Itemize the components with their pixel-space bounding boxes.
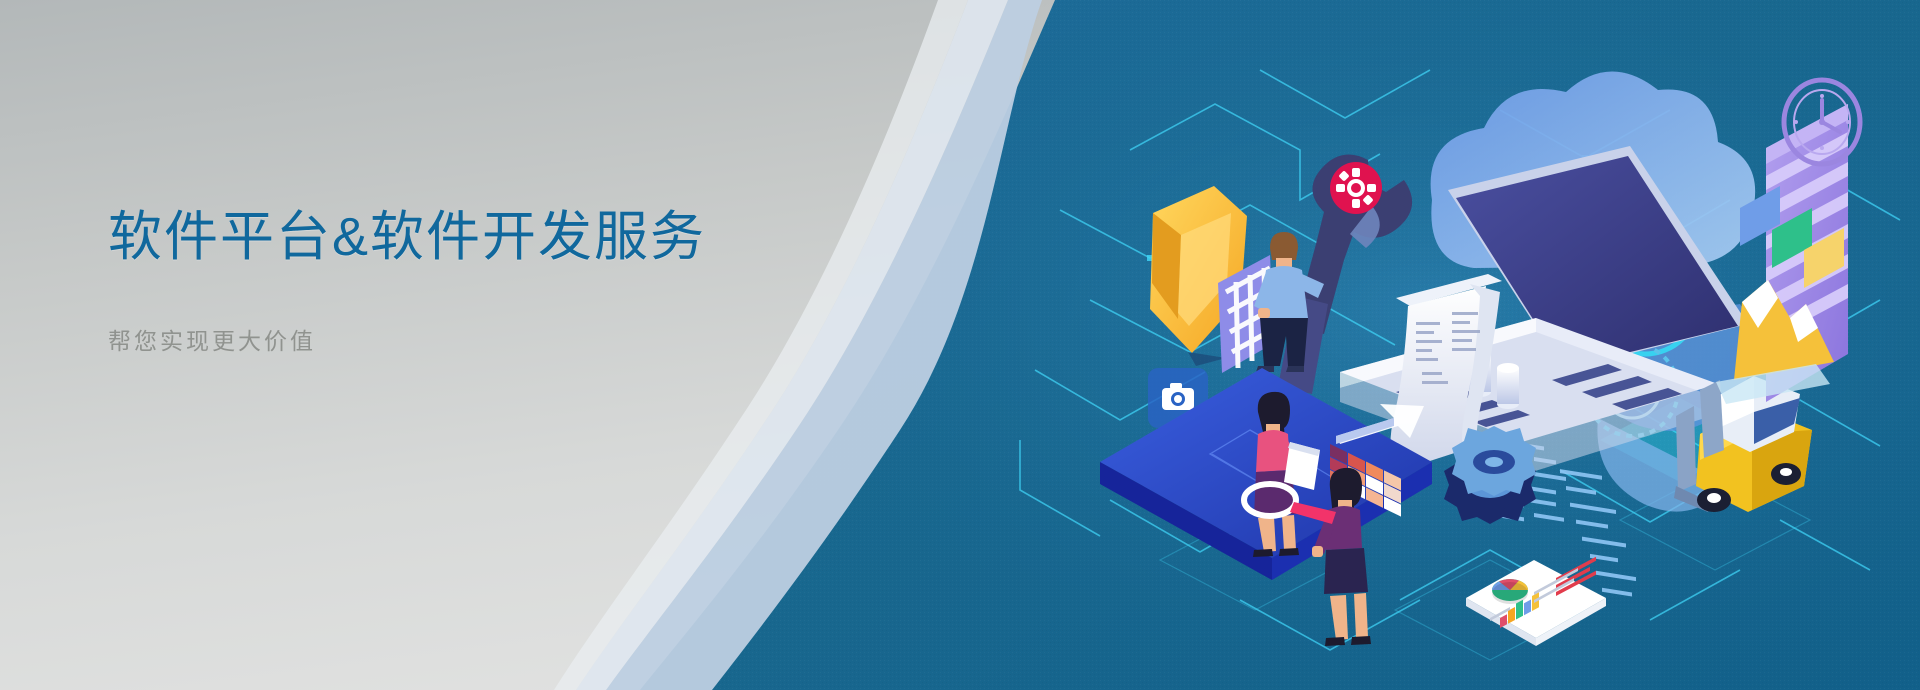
- hero-banner: 软件平台&软件开发服务 帮您实现更大价值: [0, 0, 1920, 690]
- page-subtitle: 帮您实现更大价值: [108, 322, 868, 356]
- hero-text-block: 软件平台&软件开发服务 帮您实现更大价值: [108, 206, 868, 356]
- page-title: 软件平台&软件开发服务: [108, 206, 868, 270]
